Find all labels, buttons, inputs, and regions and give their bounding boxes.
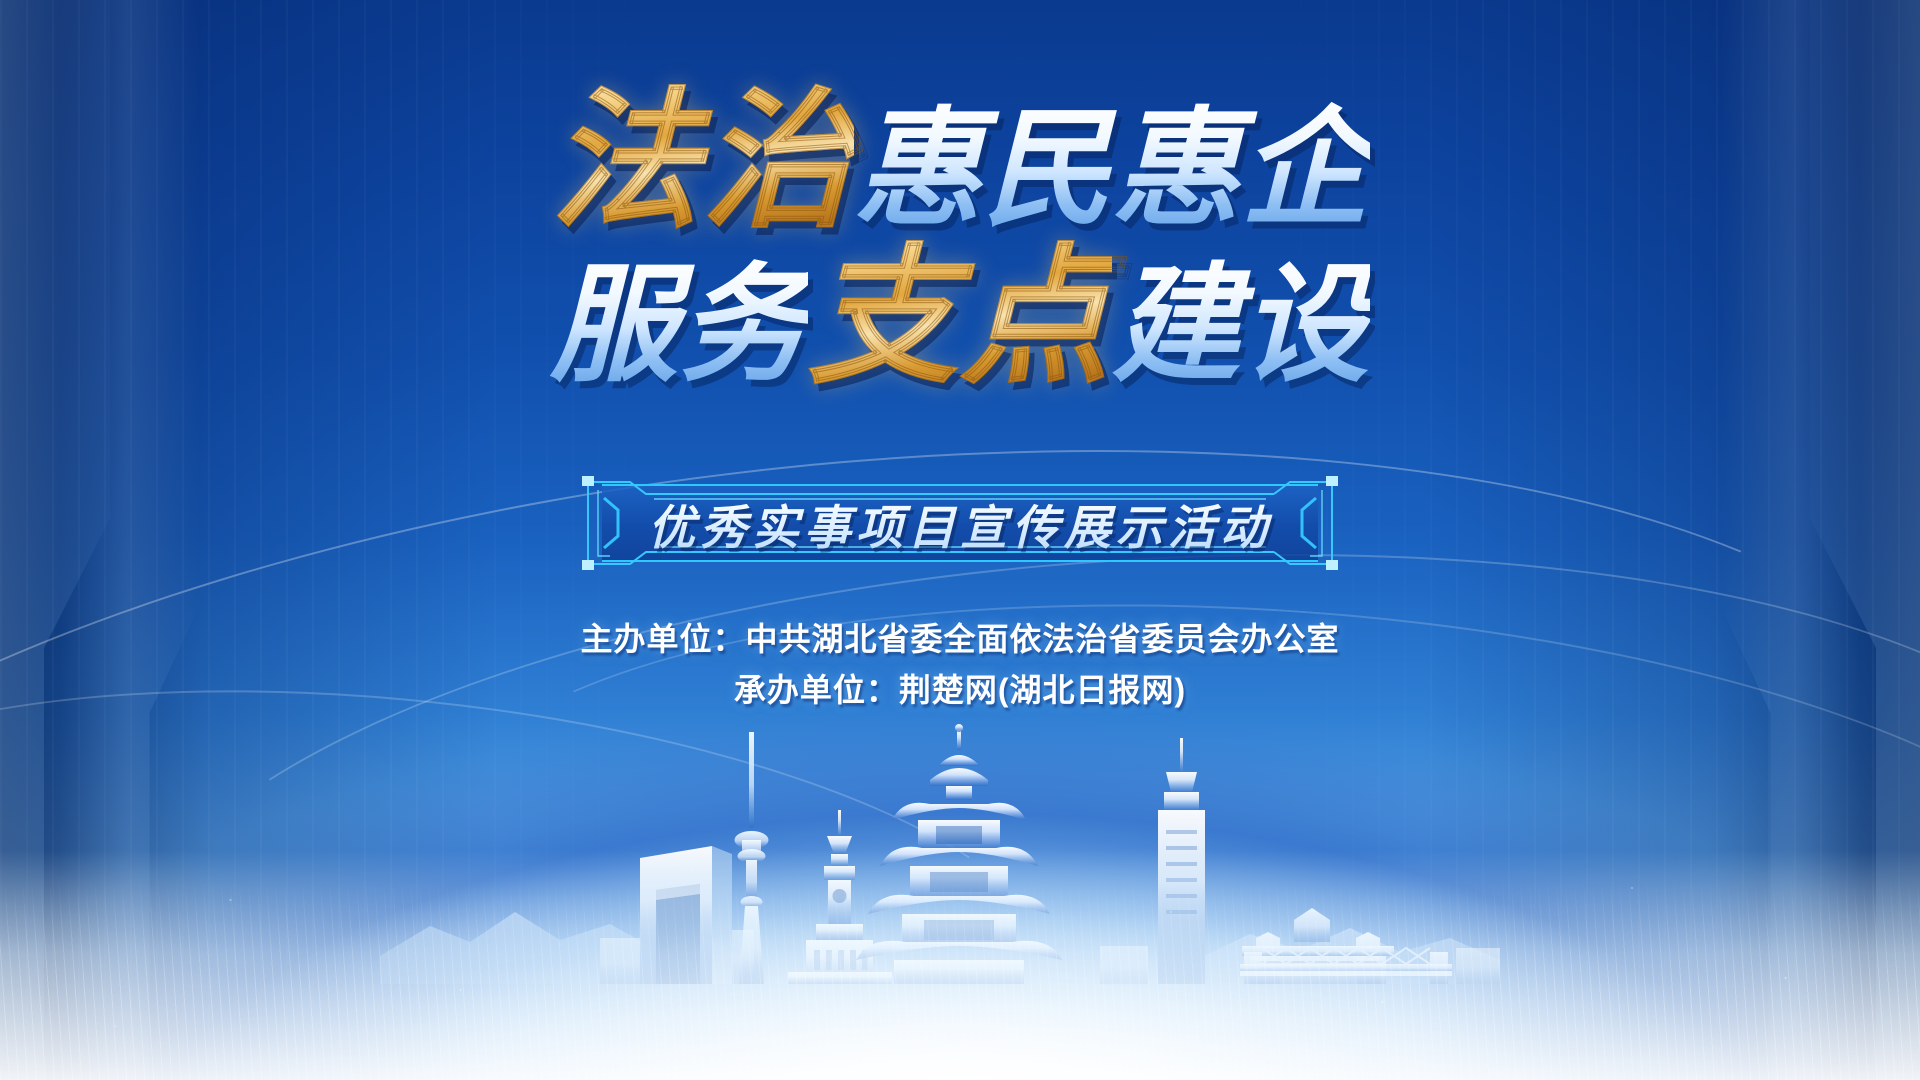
subtitle-banner: 优秀实事项目宣传展示活动 (574, 468, 1346, 578)
subtitle-text: 优秀实事项目宣传展示活动 (574, 468, 1346, 578)
title-icy-jianshe: 建设 (1112, 254, 1370, 397)
title-line-1: 法治惠民惠企 (0, 86, 1920, 236)
organizer-operator: 承办单位：荆楚网(湖北日报网) (0, 665, 1920, 716)
organizer-host: 主办单位：中共湖北省委全面依法治省委员会办公室 (0, 614, 1920, 665)
banner-canvas: 法治惠民惠企 服务支点建设 (0, 0, 1920, 1080)
title-icy-fuwu: 服务 (550, 254, 808, 397)
title-gold-zhidian: 支点 (808, 229, 1112, 405)
title-gold-fazhi: 法治 (550, 73, 854, 249)
particle-speckles (0, 780, 1920, 1080)
title-line-2: 服务支点建设 (0, 242, 1920, 392)
title-icy-huiminhuiqi: 惠民惠企 (854, 98, 1370, 241)
main-title-block: 法治惠民惠企 服务支点建设 (0, 86, 1920, 392)
organizer-block: 主办单位：中共湖北省委全面依法治省委员会办公室 承办单位：荆楚网(湖北日报网) (0, 614, 1920, 716)
